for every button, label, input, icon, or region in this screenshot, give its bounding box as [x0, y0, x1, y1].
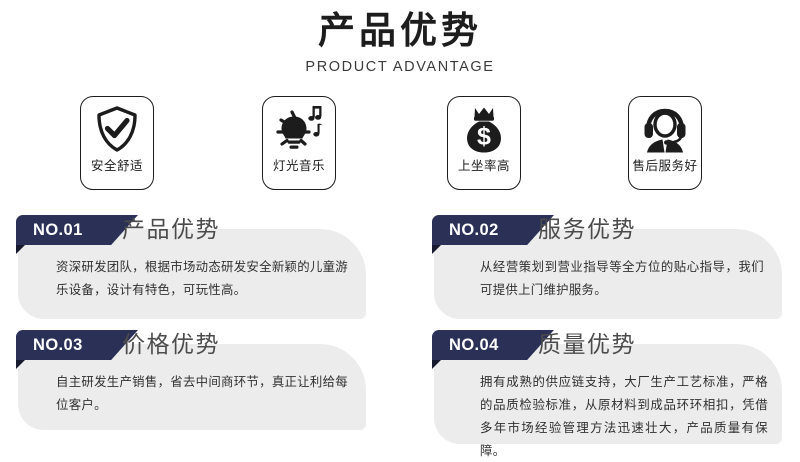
card-body-text: 自主研发生产销售，省去中间商环节，真正让利给每位客户。 [56, 370, 348, 416]
card-number-label: NO.01 [33, 221, 83, 240]
ribbon-fold-decoration [432, 245, 441, 254]
card-number-ribbon: NO.04 [432, 330, 554, 360]
card-number-ribbon: NO.01 [16, 215, 138, 245]
card-number-label: NO.02 [449, 221, 499, 240]
ribbon-fold-decoration [16, 245, 25, 254]
advantage-card[interactable]: NO.02 服务优势 从经营策划到营业指导等全方位的贴心指导，我们可提供上门维护… [434, 229, 782, 319]
ribbon-fold-decoration [432, 360, 441, 369]
card-title: 质量优势 [538, 330, 636, 360]
ribbon-fold-decoration [16, 360, 25, 369]
card-title: 产品优势 [122, 215, 220, 245]
card-body-text: 从经营策划到营业指导等全方位的贴心指导，我们可提供上门维护服务。 [480, 255, 764, 301]
advantage-card-grid: NO.01 产品优势 资深研发团队，根据市场动态研发安全新颖的儿童游乐设备，设计… [0, 0, 800, 453]
advantage-card[interactable]: NO.03 价格优势 自主研发生产销售，省去中间商环节，真正让利给每位客户。 [18, 344, 366, 430]
card-title: 服务优势 [538, 215, 636, 245]
advantage-card[interactable]: NO.01 产品优势 资深研发团队，根据市场动态研发安全新颖的儿童游乐设备，设计… [18, 229, 366, 319]
advantage-card[interactable]: NO.04 质量优势 拥有成熟的供应链支持，大厂生产工艺标准，严格的品质检验标准… [434, 344, 782, 444]
card-number-label: NO.03 [33, 336, 83, 355]
card-body-text: 拥有成熟的供应链支持，大厂生产工艺标准，严格的品质检验标准，从原材料到成品环环相… [480, 370, 768, 462]
card-title: 价格优势 [122, 330, 220, 360]
card-number-ribbon: NO.03 [16, 330, 138, 360]
card-body-text: 资深研发团队，根据市场动态研发安全新颖的儿童游乐设备，设计有特色，可玩性高。 [56, 255, 348, 301]
card-number-label: NO.04 [449, 336, 499, 355]
product-advantage-page: 产品优势 PRODUCT ADVANTAGE 安全舒适 [0, 0, 800, 453]
card-number-ribbon: NO.02 [432, 215, 554, 245]
